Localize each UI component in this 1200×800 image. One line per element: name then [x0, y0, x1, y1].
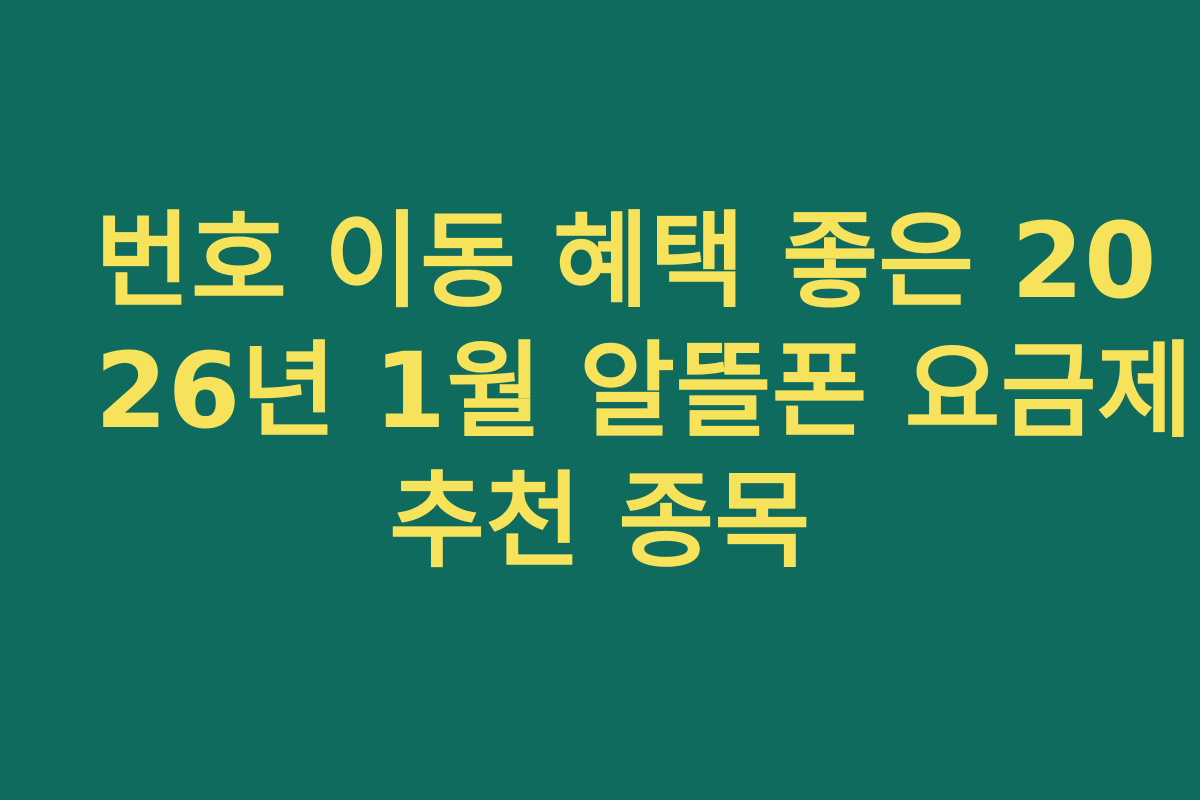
title-line-3: 추천 종목: [95, 456, 1105, 586]
title-line-2: 26년 1월 알뜰폰 요금제: [95, 326, 1105, 456]
title-line-1: 번호 이동 혜택 좋은 20: [95, 196, 1105, 326]
title-block: 번호 이동 혜택 좋은 20 26년 1월 알뜰폰 요금제 추천 종목: [95, 196, 1105, 604]
banner-card: 번호 이동 혜택 좋은 20 26년 1월 알뜰폰 요금제 추천 종목: [0, 0, 1200, 800]
